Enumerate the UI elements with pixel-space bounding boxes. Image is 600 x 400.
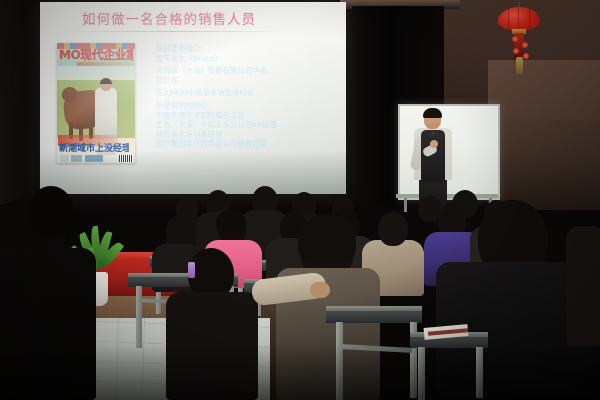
- slide-line: 东海跃（上海）贸易有限公司华北: [156, 66, 296, 76]
- lantern-flower-icon: [522, 42, 528, 48]
- magazine-man-hair: [100, 78, 112, 84]
- lantern-rib: [508, 7, 509, 31]
- lantern-tail: [516, 57, 523, 74]
- whiteboard-leg: [404, 198, 407, 212]
- slide-title-rule: [58, 31, 286, 32]
- slide-line: 姜李先生（Bruce）: [156, 54, 296, 64]
- audience-hair: [216, 210, 246, 234]
- slide-line: 所曾就职的岗位:: [156, 101, 296, 111]
- magazine-masthead: MO现代企业家: [59, 48, 133, 63]
- slide-line: 中国木偶艺术剧院舞台总监: [156, 111, 296, 121]
- foreground-attendee: [166, 292, 258, 400]
- desk-leg: [476, 347, 483, 398]
- lantern-flower-icon: [512, 36, 518, 42]
- foreground-hand: [310, 282, 330, 298]
- lantern-flower-icon: [513, 48, 519, 54]
- slide-magazine-cover: MO现代企业家 新潮域市上没经理: [57, 43, 135, 163]
- foreground-head-silhouette: [28, 186, 74, 238]
- desk-leg: [336, 322, 343, 400]
- desk-edge: [326, 306, 422, 311]
- screen-shading: [40, 150, 346, 194]
- presenter-hand: [430, 140, 438, 148]
- slide-title: 如何做一名合格的销售人员: [44, 8, 294, 28]
- slide-line: 培训老师简介:: [156, 44, 296, 54]
- foreground-attendee-left: [0, 248, 96, 400]
- red-lantern-decoration: [498, 2, 542, 76]
- lantern-body: [498, 7, 540, 31]
- foreground-hair: [298, 214, 356, 262]
- lantern-rib: [518, 7, 519, 31]
- lantern-flower-icon: [523, 53, 529, 59]
- audience-head: [378, 212, 408, 246]
- water-bottle: [188, 262, 195, 278]
- presenter-hair: [423, 108, 442, 118]
- lantern-rib: [529, 7, 530, 31]
- magazine-subtitle-bar: [77, 62, 133, 66]
- magazine-masthead-cn: 现代企业家: [80, 48, 133, 62]
- classroom-photo: 如何做一名合格的销售人员 MO现代企业家 新潮域市上没经理 培训老师简介: 姜李…: [0, 0, 600, 400]
- edge-attendee: [566, 226, 600, 346]
- slide-line: 区经理: [156, 76, 296, 86]
- right-wall-lower: [488, 60, 600, 210]
- slide-line: 圣牧（天津）牛奶北京分公司KA经理: [156, 120, 296, 130]
- slide-body-text: 培训老师简介: 姜李先生（Bruce） 东海跃（上海）贸易有限公司华北 区经理 …: [156, 44, 296, 149]
- magazine-masthead-latin: MO: [59, 48, 80, 62]
- desk-leg: [136, 286, 142, 348]
- desk-leg: [418, 347, 425, 400]
- slide-line: 有23年的中高级市场管理经验: [156, 88, 296, 98]
- slide-line: 国历集团北京营养品公司销售总监: [156, 139, 296, 149]
- presenter: [410, 110, 456, 210]
- magazine-man-body: [95, 87, 117, 139]
- left-wall-edge: [0, 0, 34, 205]
- slide-line: 味好美北京销售经理: [156, 130, 296, 140]
